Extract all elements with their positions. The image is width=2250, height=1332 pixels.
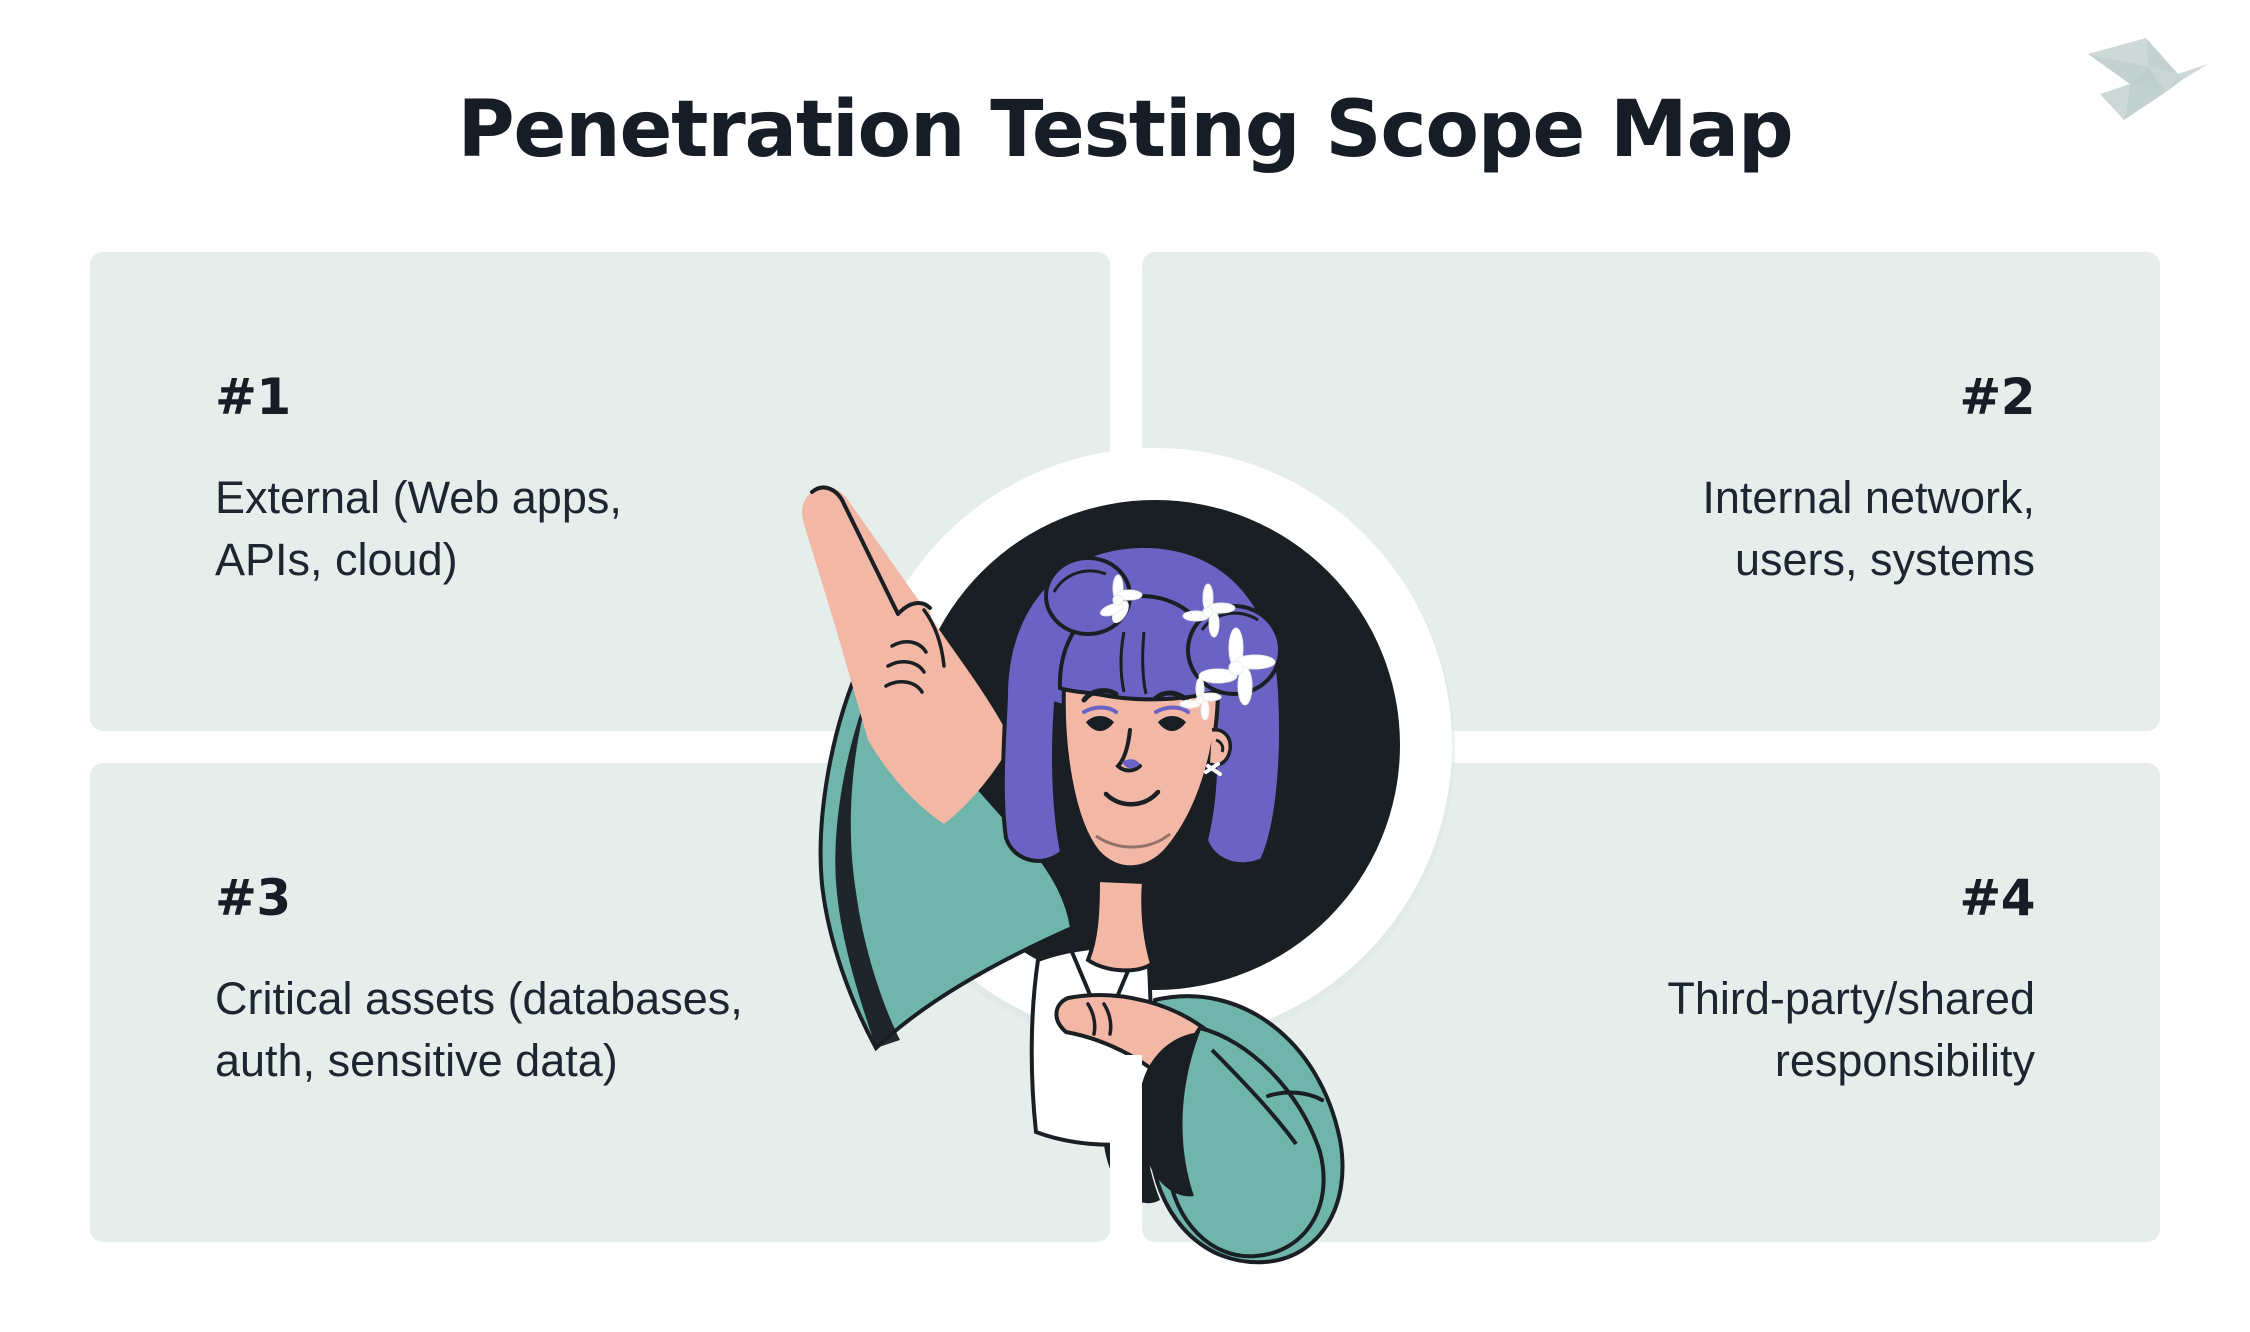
page-title: Penetration Testing Scope Map bbox=[0, 90, 2250, 172]
card-4-number: #4 bbox=[1959, 873, 2035, 923]
infographic-canvas: Penetration Testing Scope Map #1 Externa… bbox=[0, 0, 2250, 1332]
card-1-description: External (Web apps, APIs, cloud) bbox=[215, 467, 775, 591]
card-2-description: Internal network, users, systems bbox=[1415, 467, 2035, 591]
card-2-number: #2 bbox=[1959, 372, 2035, 422]
card-4-description: Third-party/shared responsibility bbox=[1415, 968, 2035, 1092]
woman-pointing-up-illustration bbox=[700, 400, 1460, 1270]
card-1-number: #1 bbox=[215, 372, 291, 422]
card-3-number: #3 bbox=[215, 873, 291, 923]
